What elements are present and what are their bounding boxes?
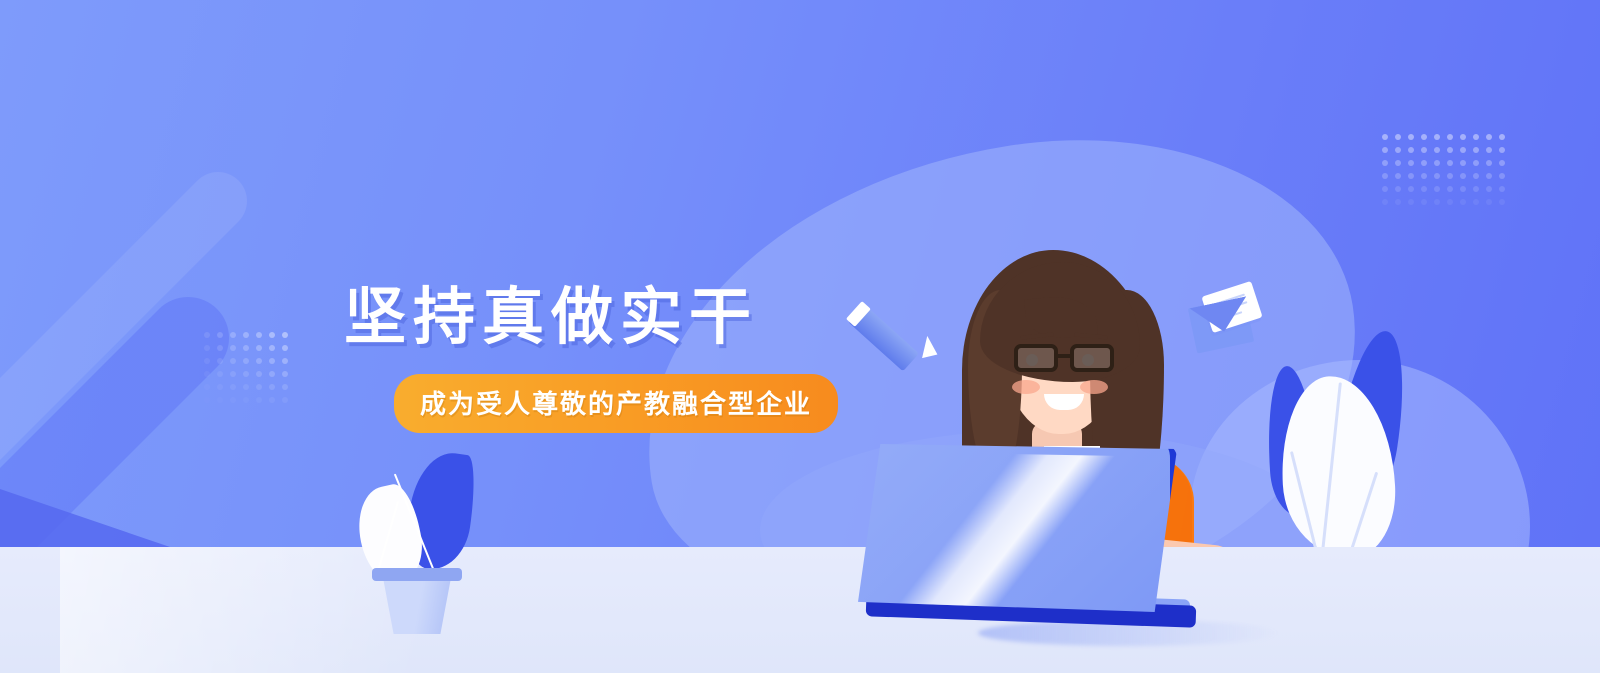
dot — [1460, 186, 1466, 192]
dot — [1486, 199, 1492, 205]
glasses-lens — [1014, 344, 1058, 372]
dot — [243, 358, 249, 364]
desk-surface — [0, 547, 1600, 673]
dot — [282, 371, 288, 377]
dot — [243, 371, 249, 377]
glasses-icon — [1014, 344, 1120, 372]
dot — [1434, 134, 1440, 140]
hero-text-block: 坚持真做实干 成为受人尊敬的产教融合型企业 — [344, 284, 864, 433]
dot — [1382, 134, 1388, 140]
dot-grid-row — [200, 393, 291, 406]
dot — [204, 384, 210, 390]
dot — [1382, 147, 1388, 153]
plant-pot — [378, 576, 456, 634]
foliage-decoration — [1258, 330, 1428, 560]
dot — [269, 384, 275, 390]
dot — [204, 397, 210, 403]
dot — [282, 384, 288, 390]
dot — [1421, 199, 1427, 205]
dot — [243, 345, 249, 351]
dot-grid-row — [1378, 182, 1508, 195]
dot — [256, 332, 262, 338]
dot — [217, 332, 223, 338]
dot — [243, 397, 249, 403]
dot — [217, 384, 223, 390]
dot-grid-row — [200, 380, 291, 393]
dot — [1395, 186, 1401, 192]
dot — [282, 397, 288, 403]
dot — [1395, 160, 1401, 166]
dot — [1486, 186, 1492, 192]
dot — [1447, 147, 1453, 153]
dot — [1434, 186, 1440, 192]
dot — [269, 397, 275, 403]
dot — [256, 371, 262, 377]
dot — [1408, 199, 1414, 205]
dot — [1499, 147, 1505, 153]
cheek-blush — [1012, 380, 1040, 394]
dot — [1460, 199, 1466, 205]
dot — [230, 371, 236, 377]
dot — [1499, 134, 1505, 140]
dot — [1486, 134, 1492, 140]
dot — [1499, 160, 1505, 166]
dot — [217, 397, 223, 403]
dot — [1473, 173, 1479, 179]
dot — [1434, 173, 1440, 179]
dot-grid-row — [1378, 130, 1508, 143]
dot — [1382, 173, 1388, 179]
dot-grid-row — [200, 354, 291, 367]
dot — [1486, 173, 1492, 179]
dot-grid-row — [200, 328, 291, 341]
dot — [1499, 186, 1505, 192]
dot — [1382, 199, 1388, 205]
dot-grid-row — [1378, 195, 1508, 208]
glasses-bridge — [1058, 354, 1072, 358]
dot — [256, 397, 262, 403]
dot — [282, 345, 288, 351]
dot-grid-row — [200, 341, 291, 354]
dot — [230, 358, 236, 364]
tagline-badge: 成为受人尊敬的产教融合型企业 — [394, 374, 838, 433]
potted-plant-illustration — [352, 452, 482, 634]
dot — [1408, 134, 1414, 140]
cheek-blush — [1080, 380, 1108, 394]
dot — [1447, 173, 1453, 179]
pencil-icon — [858, 292, 944, 366]
dot — [1460, 147, 1466, 153]
dot — [269, 371, 275, 377]
dot — [256, 358, 262, 364]
dot-grid-row — [1378, 143, 1508, 156]
dot — [1473, 147, 1479, 153]
dot — [1408, 147, 1414, 153]
laptop-screen-glare — [872, 452, 1172, 612]
dot — [204, 358, 210, 364]
hero-banner: 坚持真做实干 成为受人尊敬的产教融合型企业 — [0, 0, 1600, 673]
dot — [1460, 173, 1466, 179]
dot — [204, 371, 210, 377]
dot — [1408, 160, 1414, 166]
glasses-lens — [1070, 344, 1114, 372]
dot — [1421, 147, 1427, 153]
dot-grid-left-icon — [200, 328, 291, 406]
dot — [1395, 134, 1401, 140]
pencil-tip — [914, 336, 942, 364]
dot — [282, 332, 288, 338]
dot — [1434, 160, 1440, 166]
dot — [282, 358, 288, 364]
page-title: 坚持真做实干 — [344, 284, 864, 352]
plant-pot-rim — [372, 568, 462, 581]
dot — [204, 332, 210, 338]
dot — [1473, 134, 1479, 140]
dot — [1447, 160, 1453, 166]
dot — [243, 332, 249, 338]
dot — [204, 345, 210, 351]
dot — [1499, 173, 1505, 179]
dot-grid-row — [200, 367, 291, 380]
dot — [1460, 160, 1466, 166]
dot-grid-row — [1378, 156, 1508, 169]
dot — [1473, 160, 1479, 166]
dot — [1421, 134, 1427, 140]
dot — [217, 371, 223, 377]
dot — [1486, 160, 1492, 166]
dot — [1421, 160, 1427, 166]
dot — [1382, 186, 1388, 192]
dot — [269, 358, 275, 364]
dot — [1421, 173, 1427, 179]
dot — [230, 345, 236, 351]
dot — [1434, 199, 1440, 205]
dot — [1395, 199, 1401, 205]
dot — [1408, 186, 1414, 192]
dot — [1395, 173, 1401, 179]
dot — [256, 384, 262, 390]
dot — [1408, 173, 1414, 179]
dot — [230, 397, 236, 403]
dot — [1447, 134, 1453, 140]
dot — [217, 358, 223, 364]
dot — [243, 384, 249, 390]
dot — [1473, 186, 1479, 192]
dot — [1499, 199, 1505, 205]
dot — [230, 332, 236, 338]
dot-grid-row — [1378, 169, 1508, 182]
dot — [217, 345, 223, 351]
dot — [1395, 147, 1401, 153]
dot — [269, 332, 275, 338]
dot-grid-right-icon — [1378, 130, 1508, 208]
dot — [269, 345, 275, 351]
dot — [1447, 199, 1453, 205]
dot — [1382, 160, 1388, 166]
dot — [1460, 134, 1466, 140]
laptop-illustration — [858, 444, 1238, 642]
dot — [1421, 186, 1427, 192]
dot — [1486, 147, 1492, 153]
dot — [256, 345, 262, 351]
dot — [1434, 147, 1440, 153]
dot — [1447, 186, 1453, 192]
dot — [230, 384, 236, 390]
dot — [1473, 199, 1479, 205]
